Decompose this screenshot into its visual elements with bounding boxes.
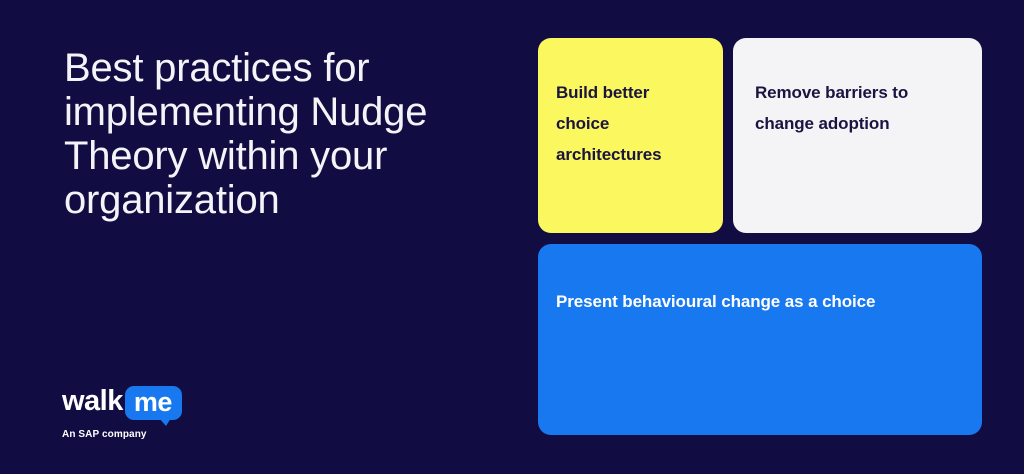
card-label: Present behavioural change as a choice: [556, 286, 962, 317]
walkme-logo[interactable]: walk me An SAP company: [62, 386, 262, 446]
card-remove-barriers-to-change-adoption[interactable]: Remove barriers to change adoption: [733, 38, 982, 233]
logo-speech-bubble-icon: me: [125, 386, 182, 420]
card-build-better-choice-architectures[interactable]: Build better choice architectures: [538, 38, 723, 233]
page-title: Best practices for implementing Nudge Th…: [64, 46, 504, 222]
logo-text-me: me: [125, 386, 182, 420]
slide-canvas: Best practices for implementing Nudge Th…: [0, 0, 1024, 474]
logo-text-walk: walk: [62, 386, 123, 416]
card-present-behavioural-change-as-a-choice[interactable]: Present behavioural change as a choice: [538, 244, 982, 435]
headline-block: Best practices for implementing Nudge Th…: [64, 46, 504, 222]
card-label: Remove barriers to change adoption: [755, 77, 962, 139]
logo-wordmark: walk me: [62, 386, 262, 420]
logo-tagline: An SAP company: [62, 429, 262, 441]
speech-bubble-tail-icon: [159, 418, 171, 426]
card-label: Build better choice architectures: [556, 77, 705, 170]
